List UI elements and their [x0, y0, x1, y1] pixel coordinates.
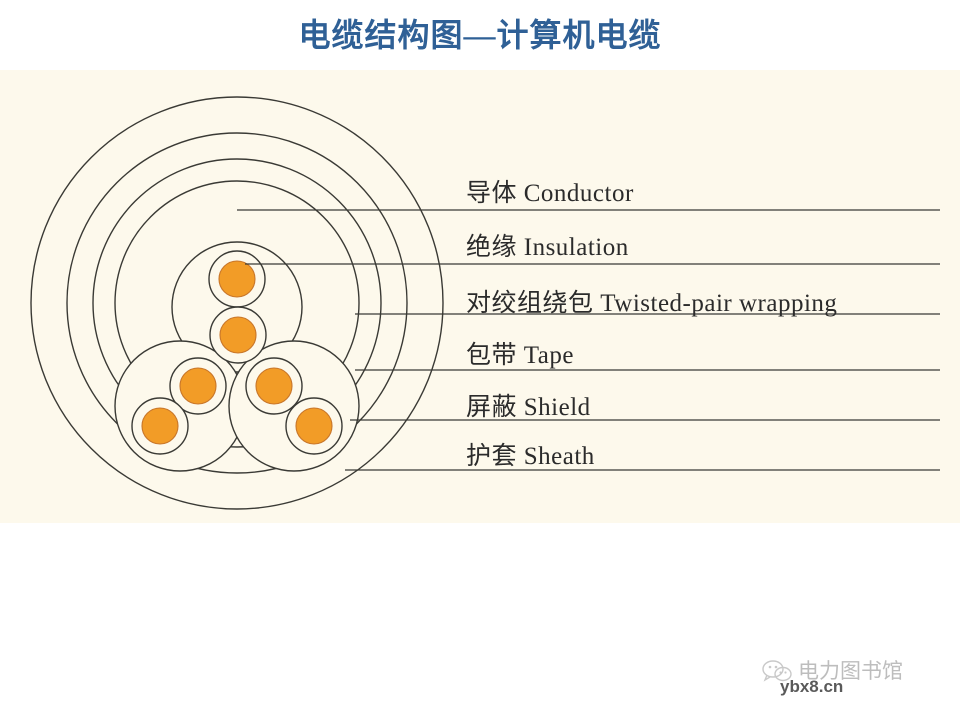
conductor-4 [142, 408, 178, 444]
callout-label-sheath: 护套 Sheath [466, 436, 595, 472]
conductor-5 [256, 368, 292, 404]
watermark-site-text: ybx8.cn [780, 677, 843, 697]
callout-label-shield: 屏蔽 Shield [466, 387, 591, 423]
callout-label-twisted-pair-wrapping: 对绞组绕包 Twisted-pair wrapping [466, 283, 837, 319]
conductor-6 [296, 408, 332, 444]
content-panel: 导体 Conductor 绝缘 Insulation 对绞组绕包 Twisted… [0, 70, 960, 523]
conductor-2 [220, 317, 256, 353]
conductor-1 [219, 261, 255, 297]
page-title: 电缆结构图—计算机电缆 [0, 10, 960, 56]
callout-label-conductor: 导体 Conductor [466, 173, 634, 209]
callout-label-insulation: 绝缘 Insulation [466, 227, 629, 263]
callout-label-tape: 包带 Tape [466, 335, 574, 371]
conductor-3 [180, 368, 216, 404]
footer-watermark: 电力图书馆 ybx8.cn [762, 655, 952, 705]
